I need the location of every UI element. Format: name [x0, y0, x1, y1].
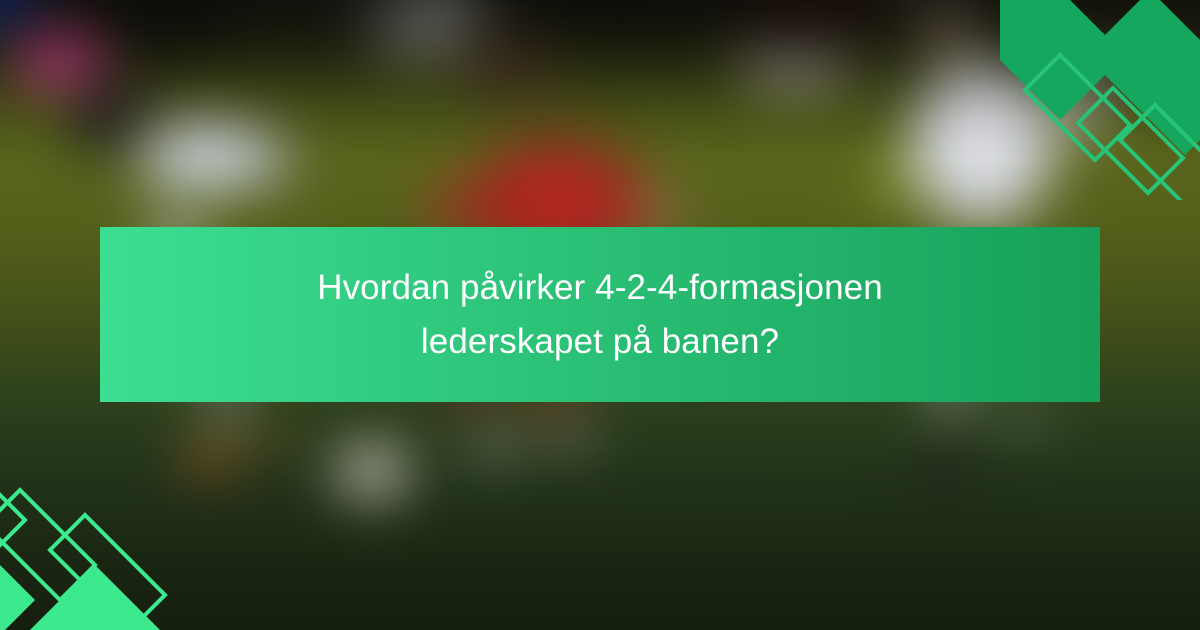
poster-canvas: Hvordan påvirker 4-2-4-formasjonen leder… — [0, 0, 1200, 630]
headline-text: Hvordan påvirker 4-2-4-formasjonen leder… — [280, 261, 920, 367]
headline-banner: Hvordan påvirker 4-2-4-formasjonen leder… — [100, 227, 1100, 402]
